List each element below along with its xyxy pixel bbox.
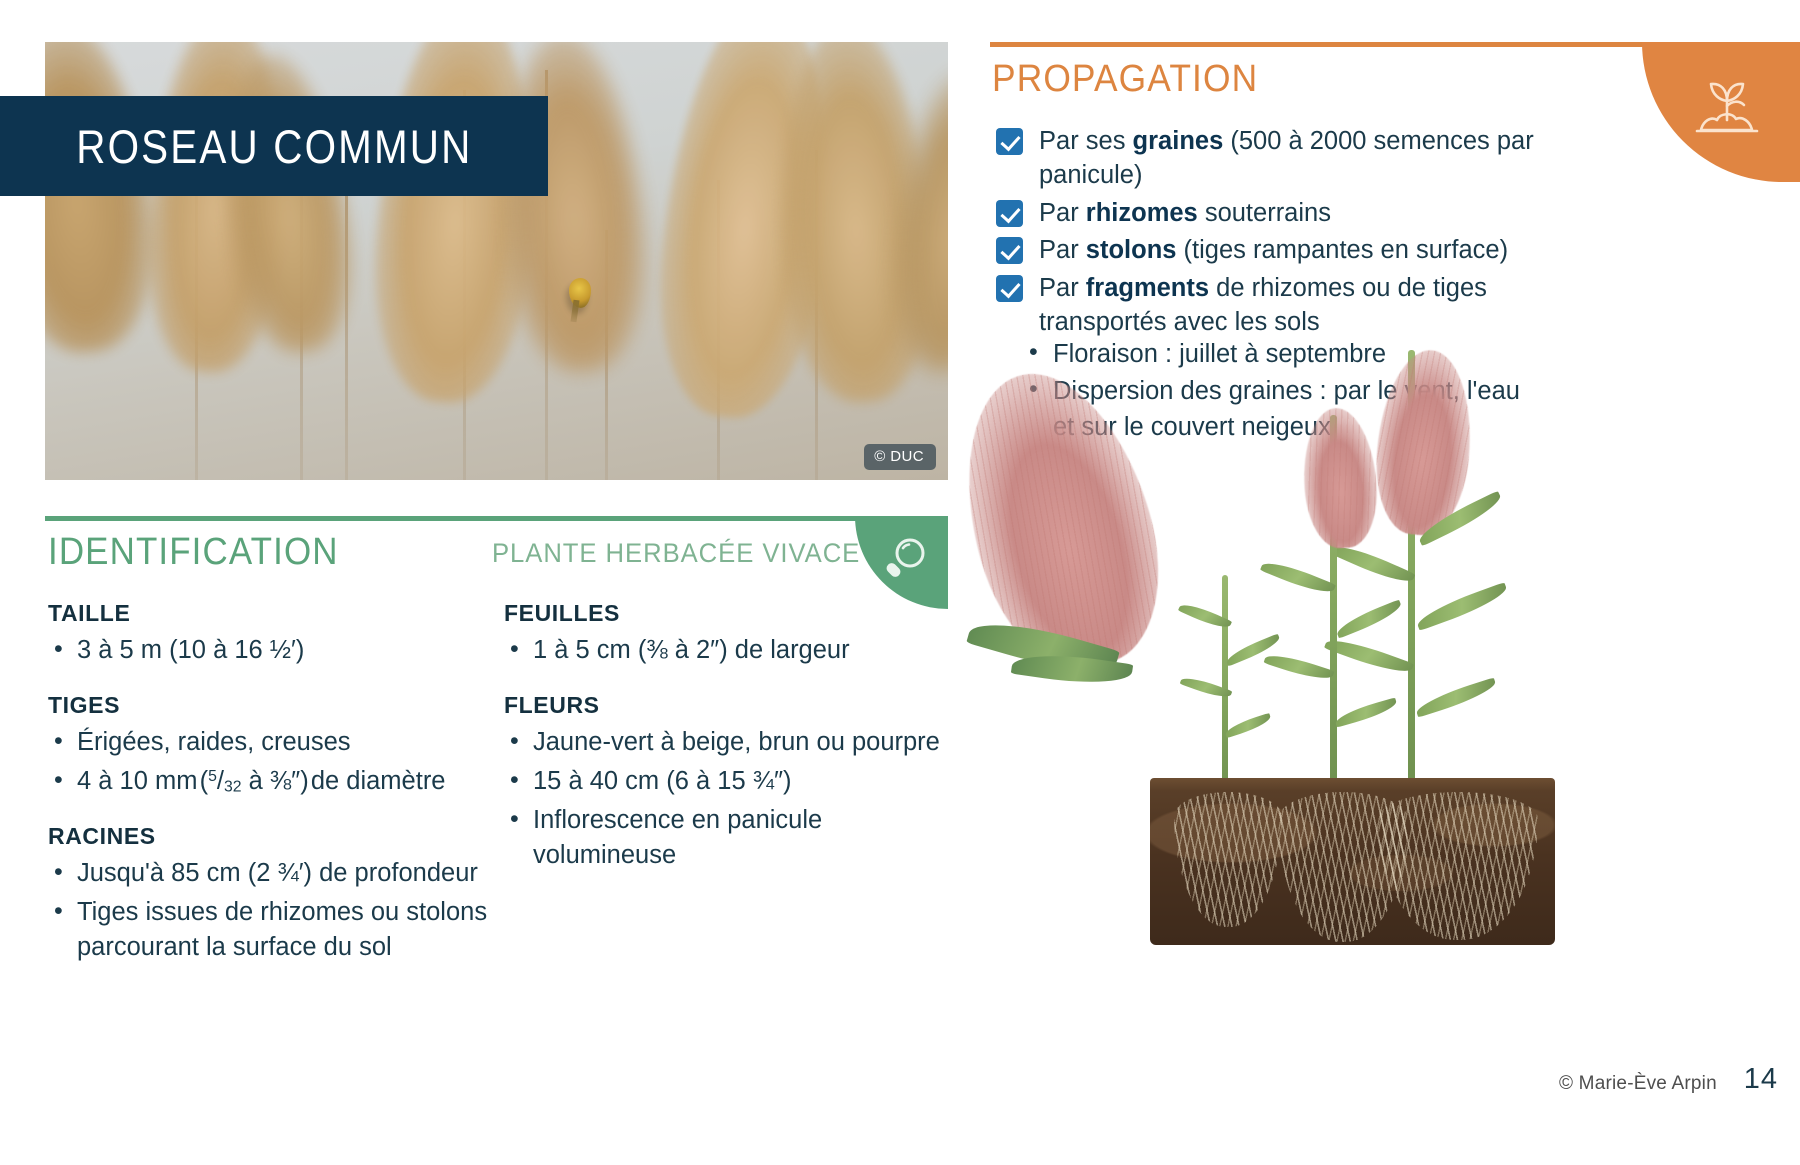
checklist-lead: Par ses bbox=[1039, 127, 1133, 155]
illustration-credit: © Marie-Ève Arpin bbox=[1559, 1073, 1717, 1095]
identification-heading: IDENTIFICATION bbox=[48, 531, 339, 574]
identification-rule bbox=[45, 516, 948, 521]
checklist-bold: graines bbox=[1133, 127, 1224, 155]
identification-badge bbox=[855, 516, 948, 609]
checkbox-checked-icon[interactable] bbox=[996, 128, 1023, 155]
group-list-racines: Jusqu'à 85 cm (2 ¾′) de profondeur Tiges… bbox=[48, 856, 500, 965]
group-heading-taille: TAILLE bbox=[48, 600, 500, 627]
checklist-bold: rhizomes bbox=[1086, 199, 1198, 227]
list-item: 1 à 5 cm (⅜ à 2″) de largeur bbox=[504, 633, 952, 668]
list-item: 15 à 40 cm (6 à 15 ¾″) bbox=[504, 764, 952, 799]
list-item: Jaune-vert à beige, brun ou pourpre bbox=[504, 725, 952, 760]
identification-subtitle: PLANTE HERBACÉE VIVACE bbox=[492, 538, 860, 569]
group-list-taille: 3 à 5 m (10 à 16 ½′) bbox=[48, 633, 500, 668]
list-item: Tiges issues de rhizomes ou stolons parc… bbox=[48, 895, 500, 965]
list-item: 3 à 5 m (10 à 16 ½′) bbox=[48, 633, 500, 668]
page-number: 14 bbox=[1744, 1063, 1778, 1096]
checklist-bold: fragments bbox=[1086, 274, 1209, 302]
checklist-lead: Par bbox=[1039, 236, 1086, 264]
magnifier-icon bbox=[879, 534, 931, 586]
checklist-tail: souterrains bbox=[1198, 199, 1331, 227]
group-heading-feuilles: FEUILLES bbox=[504, 600, 952, 627]
identification-columns: TAILLE 3 à 5 m (10 à 16 ½′) TIGES Érigée… bbox=[48, 600, 953, 965]
plant-illustration bbox=[978, 360, 1800, 1000]
checklist-item: Par rhizomes souterrains bbox=[992, 196, 1537, 230]
right-page: PROPAGATION Par ses graines (500 à 2000 … bbox=[978, 0, 1800, 1165]
checkbox-checked-icon[interactable] bbox=[996, 200, 1023, 227]
checklist-item: Par fragments de rhizomes ou de tiges tr… bbox=[992, 271, 1537, 340]
list-item: Érigées, raides, creuses bbox=[48, 725, 500, 760]
photo-credit: © DUC bbox=[864, 444, 936, 470]
group-heading-fleurs: FLEURS bbox=[504, 692, 952, 719]
checkbox-checked-icon[interactable] bbox=[996, 275, 1023, 302]
page-title: ROSEAU COMMUN bbox=[76, 119, 472, 174]
page-title-banner: ROSEAU COMMUN bbox=[0, 96, 548, 196]
group-list-fleurs: Jaune-vert à beige, brun ou pourpre 15 à… bbox=[504, 725, 952, 873]
group-heading-racines: RACINES bbox=[48, 823, 500, 850]
group-list-feuilles: 1 à 5 cm (⅜ à 2″) de largeur bbox=[504, 633, 952, 668]
checklist-tail: (tiges rampantes en surface) bbox=[1176, 236, 1508, 264]
checklist-bold: stolons bbox=[1086, 236, 1177, 264]
checkbox-checked-icon[interactable] bbox=[996, 237, 1023, 264]
checklist-lead: Par bbox=[1039, 199, 1086, 227]
propagation-heading: PROPAGATION bbox=[992, 58, 1258, 101]
list-item: 4 à 10 mm (5/32 à ⅜″) de diamètre bbox=[48, 764, 500, 799]
propagation-badge bbox=[1642, 42, 1800, 182]
checklist-lead: Par bbox=[1039, 274, 1086, 302]
group-list-tiges: Érigées, raides, creuses 4 à 10 mm (5/32… bbox=[48, 725, 500, 799]
group-heading-tiges: TIGES bbox=[48, 692, 500, 719]
checklist-item: Par ses graines (500 à 2000 semences par… bbox=[992, 124, 1537, 193]
propagation-checklist: Par ses graines (500 à 2000 semences par… bbox=[992, 124, 1537, 343]
left-page: © DUC ROSEAU COMMUN IDENTIFICATION PLANT… bbox=[0, 0, 978, 1165]
list-item: Jusqu'à 85 cm (2 ¾′) de profondeur bbox=[48, 856, 500, 891]
identification-right-column: FEUILLES 1 à 5 cm (⅜ à 2″) de largeur FL… bbox=[500, 600, 952, 965]
identification-left-column: TAILLE 3 à 5 m (10 à 16 ½′) TIGES Érigée… bbox=[48, 600, 500, 965]
checklist-item: Par stolons (tiges rampantes en surface) bbox=[992, 233, 1537, 267]
seedling-icon bbox=[1690, 70, 1764, 146]
list-item: Inflorescence en panicule volumineuse bbox=[504, 803, 952, 873]
